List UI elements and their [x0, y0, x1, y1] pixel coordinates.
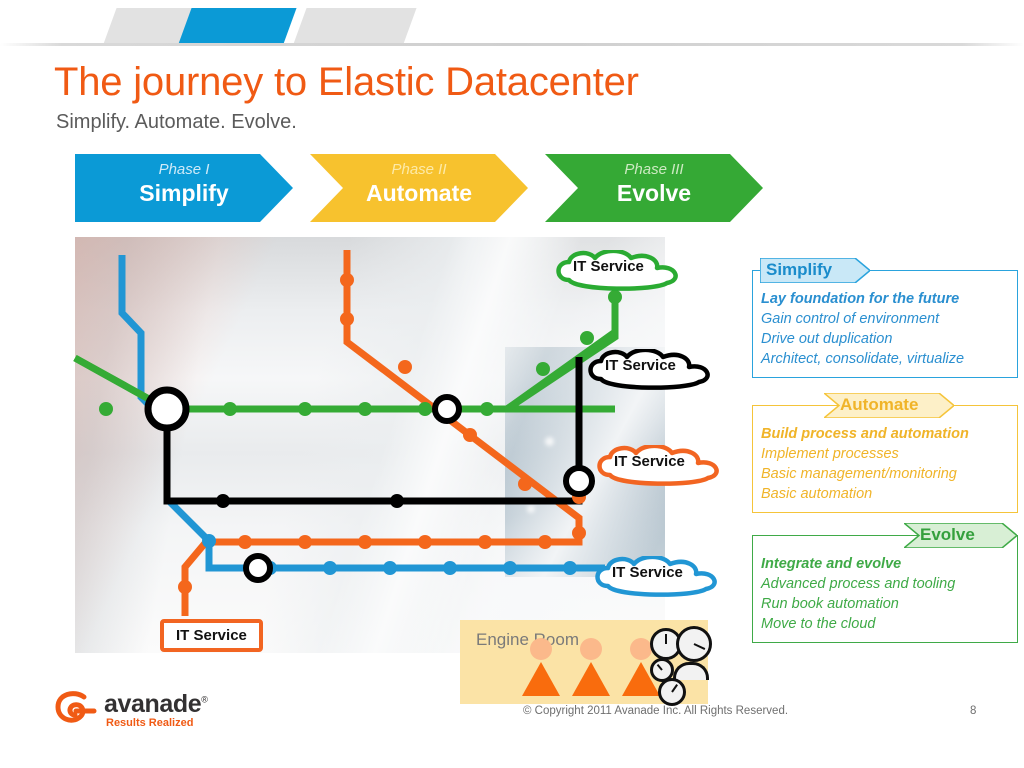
station-black [216, 494, 230, 508]
station-green [480, 402, 494, 416]
banner-shape-blue [178, 8, 296, 44]
station-orange [238, 535, 252, 549]
panel-line: Build process and automation [761, 424, 1009, 444]
panel-line: Advanced process and tooling [761, 574, 1009, 594]
station-blue [563, 561, 577, 575]
station-orange [398, 360, 412, 374]
phase-chevron-automate[interactable]: Phase II Automate [310, 154, 528, 222]
avanade-logo: avanade® Results Realized [52, 690, 252, 734]
station-black [390, 494, 404, 508]
line-orange [185, 250, 579, 616]
callout-it-service-box[interactable]: IT Service [160, 619, 263, 652]
metro-lines [75, 237, 665, 653]
station-orange [518, 477, 532, 491]
callout-it-service-black[interactable]: IT Service [583, 349, 654, 366]
station-green [223, 402, 237, 416]
interchange-node [435, 397, 459, 421]
page-number: 8 [970, 705, 976, 717]
panel-tab-label: Evolve [920, 525, 975, 545]
panel-line: Drive out duplication [761, 329, 1009, 349]
panel-evolve[interactable]: Evolve Integrate and evolve Advanced pro… [752, 523, 1018, 643]
panel-tab: Evolve [752, 523, 1018, 548]
copyright-text: © Copyright 2011 Avanade Inc. All Rights… [523, 705, 788, 717]
callout-it-service-orange[interactable]: IT Service [592, 445, 663, 462]
panel-line: Integrate and evolve [761, 554, 1009, 574]
phase-name: Phase I [75, 154, 293, 180]
callout-label: IT Service [605, 357, 676, 374]
station-orange [340, 273, 354, 287]
panel-body: Integrate and evolve Advanced process an… [752, 535, 1018, 643]
station-orange [358, 535, 372, 549]
station-green [358, 402, 372, 416]
panel-line: Architect, consolidate, virtualize [761, 349, 1009, 369]
phase-label: Simplify [75, 180, 293, 206]
phase-label: Automate [310, 180, 528, 206]
avanade-mark-icon [52, 688, 98, 732]
panel-line: Basic management/monitoring [761, 464, 1009, 484]
station-green [99, 402, 113, 416]
callout-label-box: IT Service [160, 619, 263, 652]
station-orange [178, 580, 192, 594]
line-black [167, 357, 579, 501]
station-blue [503, 561, 517, 575]
station-green [580, 331, 594, 345]
callout-label: IT Service [573, 258, 644, 275]
metro-map [75, 237, 665, 653]
panel-automate[interactable]: Automate Build process and automation Im… [752, 393, 1018, 513]
callout-label: IT Service [614, 453, 685, 470]
person-icon [572, 638, 610, 696]
station-blue [323, 561, 337, 575]
gauge-icon [676, 626, 712, 662]
station-orange [463, 428, 477, 442]
station-blue [202, 534, 216, 548]
panel-line: Run book automation [761, 594, 1009, 614]
gauge-icon [658, 678, 686, 706]
panel-simplify[interactable]: Simplify Lay foundation for the future G… [752, 258, 1018, 378]
panel-line: Basic automation [761, 484, 1009, 504]
station-orange [340, 312, 354, 326]
interchange-node [566, 468, 592, 494]
station-orange [538, 535, 552, 549]
station-orange [572, 526, 586, 540]
panel-line: Implement processes [761, 444, 1009, 464]
panel-line: Lay foundation for the future [761, 289, 1009, 309]
panel-body: Lay foundation for the future Gain contr… [752, 270, 1018, 378]
phase-label: Evolve [545, 180, 763, 206]
banner-rule [0, 43, 1024, 46]
station-green [536, 362, 550, 376]
station-green [608, 290, 622, 304]
engine-room-panel: Engine Room [460, 620, 708, 704]
station-orange [418, 535, 432, 549]
panel-tab: Automate [752, 393, 1018, 418]
interchange-node [246, 556, 270, 580]
panel-tab-label: Simplify [766, 260, 832, 280]
callout-label: IT Service [612, 564, 683, 581]
station-blue [443, 561, 457, 575]
slide: The journey to Elastic Datacenter Simpli… [0, 0, 1024, 768]
station-orange [478, 535, 492, 549]
stations [99, 273, 622, 594]
panel-tab-label: Automate [840, 395, 918, 415]
page-title: The journey to Elastic Datacenter [54, 60, 639, 105]
banner-shape-gray-right [293, 8, 416, 44]
callout-it-service-green[interactable]: IT Service [551, 250, 622, 267]
top-decorative-band [0, 0, 1024, 46]
registered-mark: ® [201, 695, 207, 705]
station-orange [298, 535, 312, 549]
person-icon [522, 638, 560, 696]
station-green [418, 402, 432, 416]
phase-name: Phase II [310, 154, 528, 180]
phase-chevron-simplify[interactable]: Phase I Simplify [75, 154, 293, 222]
callout-it-service-blue[interactable]: IT Service [590, 556, 661, 573]
panel-tab: Simplify [752, 258, 1018, 283]
station-green [298, 402, 312, 416]
interchange-node-main [148, 390, 186, 428]
phase-chevron-evolve[interactable]: Phase III Evolve [545, 154, 763, 222]
station-blue [383, 561, 397, 575]
panel-line: Gain control of environment [761, 309, 1009, 329]
gauge-half-icon [673, 662, 709, 680]
avanade-tagline: Results Realized [106, 717, 193, 729]
phase-name: Phase III [545, 154, 763, 180]
avanade-wordmark: avanade® [104, 690, 208, 719]
page-subtitle: Simplify. Automate. Evolve. [56, 111, 297, 134]
panel-line: Move to the cloud [761, 614, 1009, 634]
panel-body: Build process and automation Implement p… [752, 405, 1018, 513]
